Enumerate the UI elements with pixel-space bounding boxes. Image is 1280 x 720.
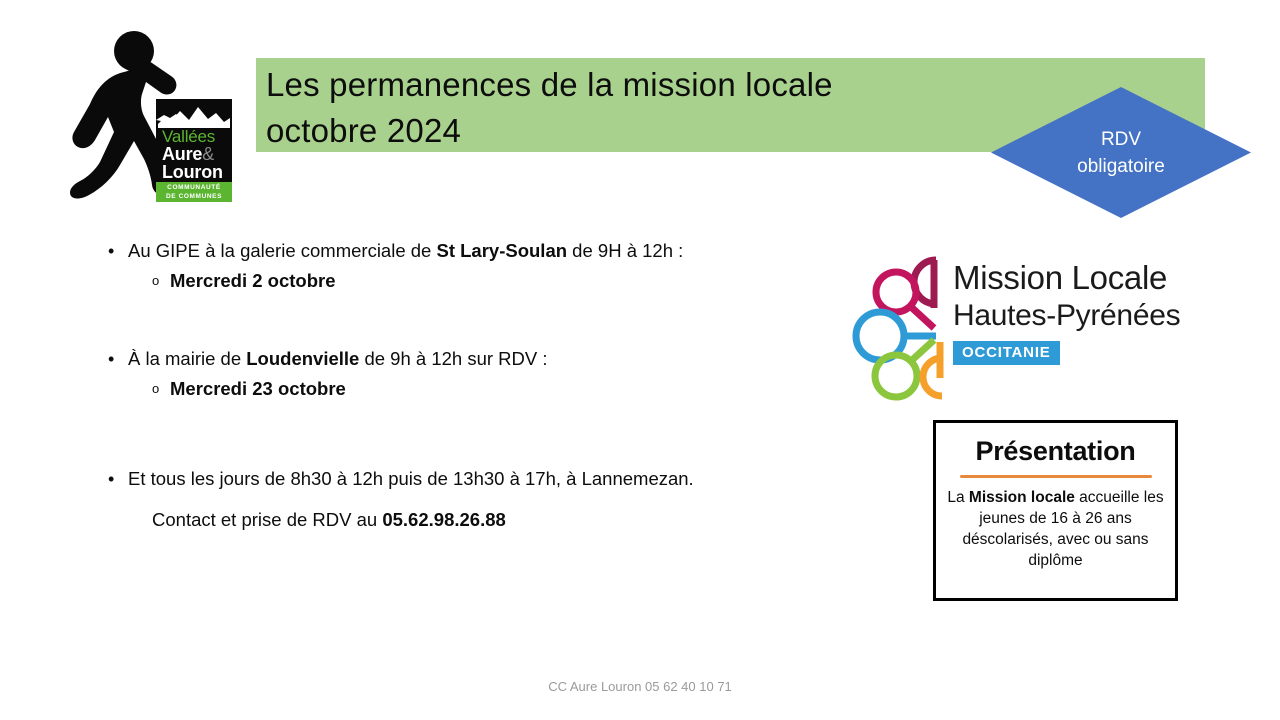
sub-item-date-2: Mercredi 23 octobre bbox=[100, 376, 860, 402]
bullet-item-gipe: Au GIPE à la galerie commerciale de St L… bbox=[100, 238, 860, 264]
presentation-title: Présentation bbox=[936, 435, 1175, 467]
slide-footer: CC Aure Louron 05 62 40 10 71 bbox=[0, 679, 1280, 694]
mission-locale-line-1: Mission Locale bbox=[953, 258, 1183, 297]
cc-logo-ampersand: & bbox=[202, 144, 214, 164]
sub-item-date-1: Mercredi 2 octobre bbox=[100, 268, 860, 294]
cc-logo-line-3: Louron bbox=[162, 162, 223, 182]
presentation-body-pre: La bbox=[947, 489, 969, 506]
rdv-obligatoire-badge: RDV obligatoire bbox=[991, 87, 1251, 218]
cc-logo-line-2: Aure& bbox=[162, 144, 214, 164]
presentation-box: Présentation La Mission locale accueille… bbox=[933, 420, 1178, 601]
spacer-2 bbox=[100, 402, 860, 466]
mission-locale-line-2: Hautes-Pyrénées bbox=[953, 297, 1183, 335]
bullet-gipe-location: St Lary-Soulan bbox=[436, 240, 567, 261]
mission-locale-logo: Mission Locale Hautes-Pyrénées OCCITANIE bbox=[848, 248, 1182, 408]
mission-locale-mark-icon bbox=[848, 248, 948, 408]
bullet-mairie-location: Loudenvielle bbox=[246, 348, 359, 369]
cc-logo-footer-line-1: COMMUNAUTÉ bbox=[167, 183, 221, 192]
cc-aure-louron-logo: Vallées Aure& Louron COMMUNAUTÉ DE COMMU… bbox=[156, 99, 232, 202]
cc-logo-footer-line-2: DE COMMUNES bbox=[166, 192, 222, 201]
bullet-gipe-pre: Au GIPE à la galerie commerciale de bbox=[128, 240, 436, 261]
page-title: Les permanences de la mission locale oct… bbox=[266, 62, 1026, 154]
bullet-item-lannemezan: Et tous les jours de 8h30 à 12h puis de … bbox=[100, 466, 860, 492]
bullet-item-mairie: À la mairie de Loudenvielle de 9h à 12h … bbox=[100, 346, 860, 372]
contact-line: Contact et prise de RDV au 05.62.98.26.8… bbox=[100, 507, 860, 533]
slide-body: Au GIPE à la galerie commerciale de St L… bbox=[100, 238, 860, 533]
mountain-icon bbox=[156, 102, 232, 130]
cc-logo-aure: Aure bbox=[162, 144, 202, 164]
spacer-1 bbox=[100, 294, 860, 346]
occitanie-badge: OCCITANIE bbox=[953, 341, 1060, 365]
rdv-label-line-2: obligatoire bbox=[1077, 153, 1165, 180]
rdv-label: RDV obligatoire bbox=[991, 87, 1251, 218]
bullet-gipe-post: de 9H à 12h : bbox=[567, 240, 683, 261]
bullet-mairie-pre: À la mairie de bbox=[128, 348, 246, 369]
rdv-label-line-1: RDV bbox=[1101, 126, 1141, 153]
presentation-body-bold: Mission locale bbox=[969, 489, 1075, 506]
presentation-body: La Mission locale accueille les jeunes d… bbox=[946, 487, 1165, 571]
bullet-mairie-post: de 9h à 12h sur RDV : bbox=[359, 348, 547, 369]
contact-phone-number: 05.62.98.26.88 bbox=[382, 509, 505, 530]
contact-label: Contact et prise de RDV au bbox=[152, 509, 382, 530]
cc-logo-footer: COMMUNAUTÉ DE COMMUNES bbox=[156, 182, 232, 202]
presentation-divider bbox=[960, 475, 1152, 478]
mission-locale-wordmark: Mission Locale Hautes-Pyrénées OCCITANIE bbox=[953, 258, 1183, 365]
